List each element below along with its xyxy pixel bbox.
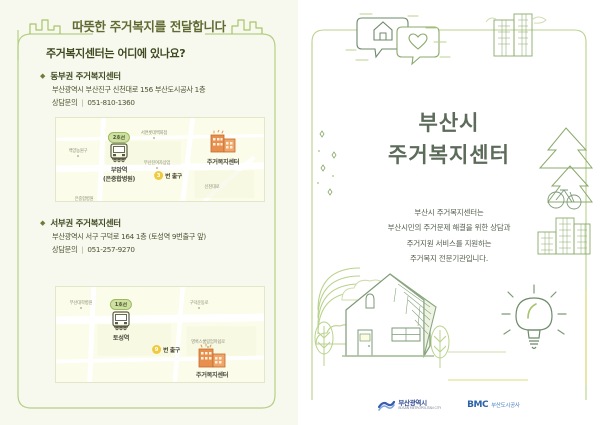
map-label-dot <box>198 307 200 309</box>
exit-number: 3 <box>154 171 163 180</box>
lightbulb-rays-icon <box>502 285 566 334</box>
exit-label: 번 출구 <box>163 345 180 354</box>
train-icon <box>108 142 130 164</box>
center-name: 동부권 주거복지센터 <box>50 70 120 82</box>
logo-row: 부산광역시 BUSAN METROPOLITAN CITY BMC 부산도시공사 <box>298 398 600 412</box>
header-title: 따뜻한 주거복지를 전달합니다 <box>0 16 298 35</box>
map-label-dot <box>156 167 158 169</box>
right-description: 부산시 주거복지센터는 부산시민의 주거문제 해결을 위한 상담과 주거지원 서… <box>298 205 600 267</box>
train-icon <box>110 310 132 332</box>
center-phone: 051-810-1360 <box>87 98 134 107</box>
map-label-dot <box>77 155 79 157</box>
map-label: 구덕운동로 <box>190 300 209 306</box>
tel-label: 상담문의 <box>52 245 77 255</box>
destination-label: 주거복지센터 <box>207 159 239 167</box>
center-address: 부산광역시 부산진구 신천대로 156 부산도시공사 1층 <box>52 85 270 95</box>
right-title: 부산시 주거복지센터 <box>298 108 600 171</box>
tel-separator: | <box>81 98 83 107</box>
station-name: 토성역 <box>113 335 129 343</box>
speech-bubble-heart-icon <box>397 27 439 64</box>
bmc-logo-text: BMC <box>467 400 488 410</box>
exit-label: 번 출구 <box>165 171 182 180</box>
center-name-row: ◆ 서부권 주거복지센터 <box>40 217 270 229</box>
left-panel: 따뜻한 주거복지를 전달합니다 주거복지센터는 어디에 있나요? ◆ 동부권 주… <box>0 0 298 425</box>
map-dongbu[interactable]: 백양농원구 서면롯데백화점 부산진여자상업 신천대로 은중합병원 2호선 <box>55 117 265 202</box>
map-label: 은중합병원 <box>75 196 94 202</box>
center-tel-row: 상담문의 | 051-257-9270 <box>52 245 270 255</box>
tel-separator: | <box>81 245 83 254</box>
right-panel: 부산시 주거복지센터 부산시 주거복지센터는 부산시민의 주거문제 해결을 위한… <box>298 0 600 425</box>
tree-icon <box>431 326 449 368</box>
station-sub-name: (은중합병원) <box>103 176 135 184</box>
destination-building-icon <box>196 343 228 371</box>
station-name: 부암역 <box>111 167 127 175</box>
map-label: 백양농원구 <box>69 148 88 154</box>
exit-badge: 3 번 출구 <box>154 171 182 180</box>
center-name-row: ◆ 동부권 주거복지센터 <box>40 70 270 82</box>
desc-line: 부산시 주거복지센터는 <box>298 205 600 220</box>
center-address: 부산광역시 서구 구덕로 164 1층 (토성역 9번출구 앞) <box>52 232 270 242</box>
busan-city-emblem-icon <box>378 398 395 412</box>
map-label: 신천대로 <box>204 184 219 190</box>
map-label: 부산진여자상업 <box>144 160 170 166</box>
section-question: 주거복지센터는 어디에 있나요? <box>46 45 185 61</box>
bullet-diamond-icon: ◆ <box>40 70 45 82</box>
map-label: 서면롯데백화점 <box>141 130 167 136</box>
lightbulb-icon <box>516 298 552 349</box>
logo-sub-text: BUSAN METROPOLITAN CITY <box>398 407 441 411</box>
destination-label: 주거복지센터 <box>196 372 228 380</box>
map-seobu[interactable]: 부산대학병원 구덕운동로 영록스쿨링엄마쉼로 1호선 토성역 <box>55 286 265 383</box>
map-label-dot <box>80 307 82 309</box>
exit-number: 9 <box>152 345 161 354</box>
top-buildings-icon <box>486 14 546 56</box>
bmc-logo-sub: 부산도시공사 <box>491 401 520 409</box>
exit-badge: 9 번 출구 <box>152 345 180 354</box>
map-label-dot <box>153 137 155 139</box>
bullet-diamond-icon: ◆ <box>40 217 45 229</box>
subway-line-badge: 1호선 <box>110 299 132 310</box>
center-name: 서부권 주거복지센터 <box>50 217 120 229</box>
center-info-dongbu: ◆ 동부권 주거복지센터 부산광역시 부산진구 신천대로 156 부산도시공사 … <box>40 70 270 108</box>
center-tel-row: 상담문의 | 051-810-1360 <box>52 98 270 108</box>
desc-line: 부산시민의 주거문제 해결을 위한 상담과 <box>298 220 600 235</box>
bmc-logo: BMC 부산도시공사 <box>467 400 519 410</box>
map-label: 부산대학병원 <box>70 300 93 306</box>
tel-label: 상담문의 <box>52 98 77 108</box>
busan-city-logo-text: 부산광역시 BUSAN METROPOLITAN CITY <box>398 400 441 411</box>
right-title-line1: 부산시 <box>298 108 600 140</box>
center-info-seobu: ◆ 서부권 주거복지센터 부산광역시 서구 구덕로 164 1층 (토성역 9번… <box>40 217 270 255</box>
desc-line: 주거지원 서비스를 지원하는 <box>298 236 600 251</box>
brochure-page: 따뜻한 주거복지를 전달합니다 주거복지센터는 어디에 있나요? ◆ 동부권 주… <box>0 0 600 425</box>
desc-line: 주거복지 전문기관입니다. <box>298 251 600 266</box>
destination-building-icon <box>208 130 238 156</box>
busan-city-logo: 부산광역시 BUSAN METROPOLITAN CITY <box>378 398 441 412</box>
center-phone: 051-257-9270 <box>87 245 134 254</box>
right-title-line2: 주거복지센터 <box>298 140 600 172</box>
